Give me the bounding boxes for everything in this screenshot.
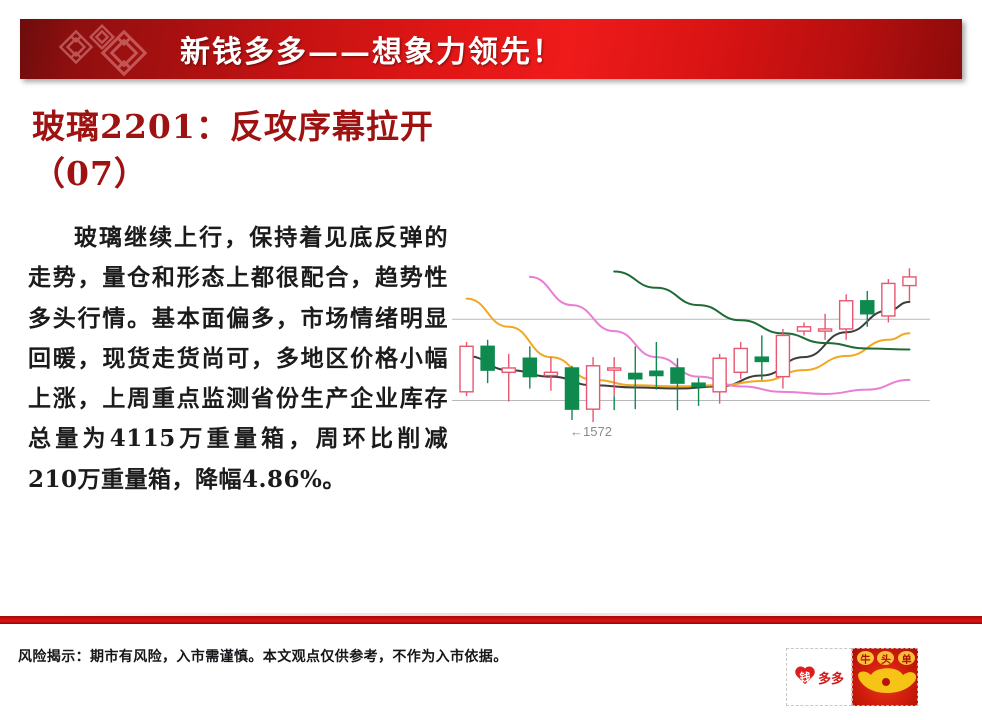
logo-stamps: 钱 多多 牛 头 单 bbox=[786, 648, 918, 706]
qianduoduo-stamp: 钱 多多 bbox=[786, 648, 852, 706]
header-banner: 新钱多多——想象力领先！ bbox=[20, 19, 962, 79]
niutoudan-stamp: 牛 头 单 bbox=[852, 648, 918, 706]
footer-disclaimer: 风险揭示：期市有风险，入市需谨慎。本文观点仅供参考，不作为入市依据。 bbox=[18, 646, 508, 666]
banner-title: 新钱多多——想象力领先！ bbox=[180, 19, 564, 79]
niutoudan-char-2: 单 bbox=[898, 651, 915, 665]
niutoudan-char-1: 头 bbox=[877, 651, 894, 665]
heart-icon: 钱 bbox=[794, 667, 816, 687]
qianduoduo-text: 多多 bbox=[818, 668, 844, 687]
page-title: 玻璃2201：反攻序幕拉开（07） bbox=[32, 104, 452, 198]
slide-root: 新钱多多——想象力领先！ 玻璃2201：反攻序幕拉开（07） 玻璃继续上行，保持… bbox=[0, 0, 982, 720]
heart-char: 钱 bbox=[794, 669, 816, 685]
chart-annotation-1572: ←1572 bbox=[570, 424, 612, 439]
niutoudan-chars: 牛 头 单 bbox=[855, 651, 917, 665]
candlestick-chart bbox=[452, 255, 930, 455]
niutoudan-char-0: 牛 bbox=[857, 651, 874, 665]
chinese-knot-diamond-icon bbox=[50, 21, 170, 79]
body-paragraph: 玻璃继续上行，保持着见底反弹的走势，量仓和形态上都很配合，趋势性多头行情。基本面… bbox=[28, 218, 448, 500]
footer-rule bbox=[0, 616, 982, 624]
